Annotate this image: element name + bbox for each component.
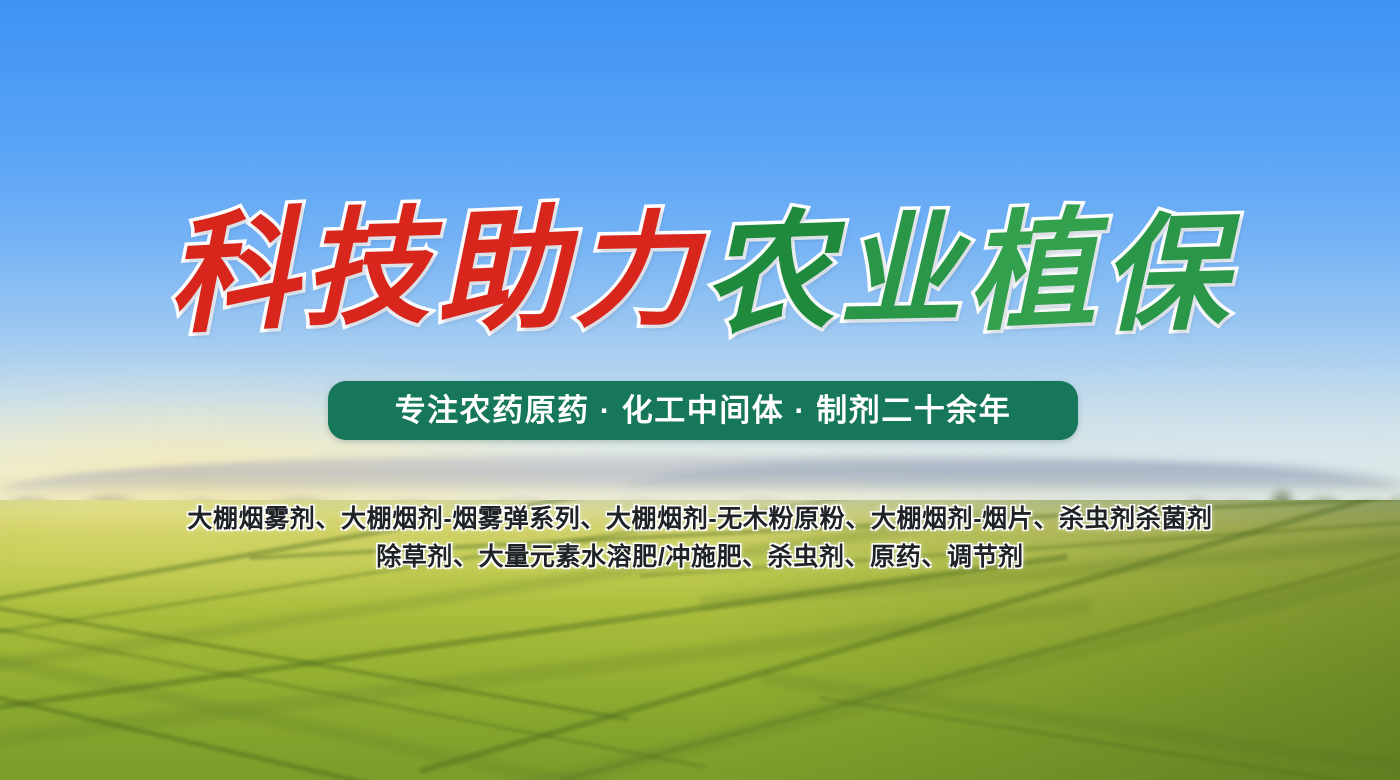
headline-glyph: 科 [164,207,307,344]
headline-glyph: 保 [1099,212,1234,341]
headline-glyph: 植 [964,206,1103,340]
subtitle-text: 专注农药原药 · 化工中间体 · 制剂二十余年 [395,395,1012,426]
headline-glyph: 业 [838,211,968,335]
hero-banner: 科技助力农业植保 专注农药原药 · 化工中间体 · 制剂二十余年 大棚烟雾剂、大… [0,0,1400,780]
headline-glyph: 技 [301,206,436,335]
product-line-1: 大棚烟雾剂、大棚烟剂-烟雾弹系列、大棚烟剂-无木粉原粉、大棚烟剂-烟片、杀虫剂杀… [0,500,1400,538]
subtitle-pill: 专注农药原药 · 化工中间体 · 制剂二十余年 [328,381,1078,440]
headline-glyph: 助 [432,204,576,342]
headline-glyph: 力 [572,210,704,336]
product-line-2: 除草剂、大量元素水溶肥/冲施肥、杀虫剂、原药、调节剂 [0,538,1400,576]
product-list: 大棚烟雾剂、大棚烟剂-烟雾弹系列、大棚烟剂-无木粉原粉、大棚烟剂-烟片、杀虫剂杀… [0,500,1400,576]
headline-glyph: 农 [701,209,841,344]
page-title: 科技助力农业植保 [0,206,1400,338]
